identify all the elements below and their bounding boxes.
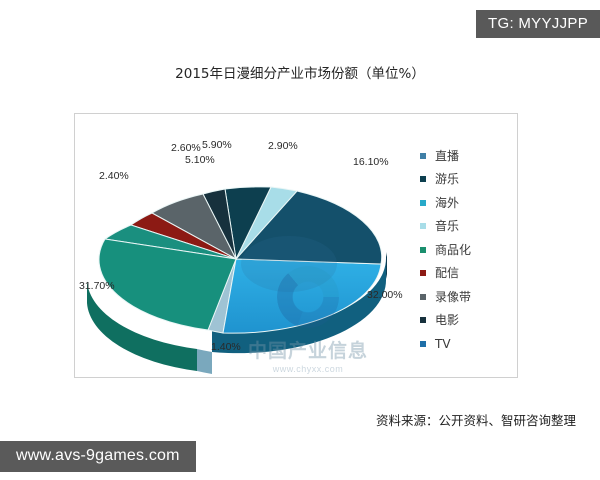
legend-item-tv[interactable]: TV xyxy=(420,332,516,356)
site-watermark-badge: www.avs-9games.com xyxy=(0,441,196,472)
legend-item-zhibo[interactable]: 直播 xyxy=(420,144,516,168)
legend-swatch-icon xyxy=(420,317,426,323)
legend-swatch-icon xyxy=(420,176,426,182)
pct-label-shangpinhua: 31.70% xyxy=(79,280,115,292)
chart-title: 2015年日漫细分产业市场份额（单位%） xyxy=(0,62,600,82)
pct-label-yinyue: 2.90% xyxy=(268,140,298,152)
pct-label-youle: 5.90% xyxy=(202,139,232,151)
legend-swatch-icon xyxy=(420,153,426,159)
legend-swatch-icon xyxy=(420,223,426,229)
pie-slices-top xyxy=(99,187,382,333)
legend-swatch-icon xyxy=(420,294,426,300)
chart-legend: 直播 游乐 海外 音乐 商品化 配信 xyxy=(420,144,516,356)
pct-label-luxiangdai: 5.10% xyxy=(185,154,215,166)
screenshot-root: TG: MYYJJPP 2015年日漫细分产业市场份额（单位%） xyxy=(0,0,600,480)
legend-label: TV xyxy=(435,338,451,350)
legend-item-yinyue[interactable]: 音乐 xyxy=(420,215,516,239)
legend-label: 音乐 xyxy=(435,220,459,232)
chart-panel: 中国产业信息 www.chyxx.com 2.40% 5.10% 2.60% 5… xyxy=(74,113,518,378)
legend-swatch-icon xyxy=(420,341,426,347)
legend-label: 游乐 xyxy=(435,173,459,185)
legend-label: 海外 xyxy=(435,197,459,209)
legend-swatch-icon xyxy=(420,200,426,206)
pct-label-dianying: 2.60% xyxy=(171,142,201,154)
pie-shading-blob xyxy=(241,236,337,292)
legend-item-shangpinhua[interactable]: 商品化 xyxy=(420,238,516,262)
legend-label: 商品化 xyxy=(435,244,471,256)
legend-item-luxiangdai[interactable]: 录像带 xyxy=(420,285,516,309)
source-note: 资料来源：公开资料、智研咨询整理 xyxy=(376,410,576,429)
legend-label: 直播 xyxy=(435,150,459,162)
legend-item-dianying[interactable]: 电影 xyxy=(420,309,516,333)
legend-label: 电影 xyxy=(435,314,459,326)
legend-label: 配信 xyxy=(435,267,459,279)
pct-label-zhibo: 16.10% xyxy=(353,156,389,168)
legend-item-youle[interactable]: 游乐 xyxy=(420,168,516,192)
pct-label-tv: 1.40% xyxy=(211,341,241,353)
pct-label-haiwai: 32.00% xyxy=(367,289,403,301)
telegram-badge: TG: MYYJJPP xyxy=(476,10,600,38)
legend-item-peixin[interactable]: 配信 xyxy=(420,262,516,286)
legend-item-haiwai[interactable]: 海外 xyxy=(420,191,516,215)
pie-chart-svg xyxy=(75,114,405,377)
legend-swatch-icon xyxy=(420,247,426,253)
pie-chart-plot xyxy=(75,114,405,377)
legend-swatch-icon xyxy=(420,270,426,276)
pct-label-peixin: 2.40% xyxy=(99,170,129,182)
legend-label: 录像带 xyxy=(435,291,471,303)
